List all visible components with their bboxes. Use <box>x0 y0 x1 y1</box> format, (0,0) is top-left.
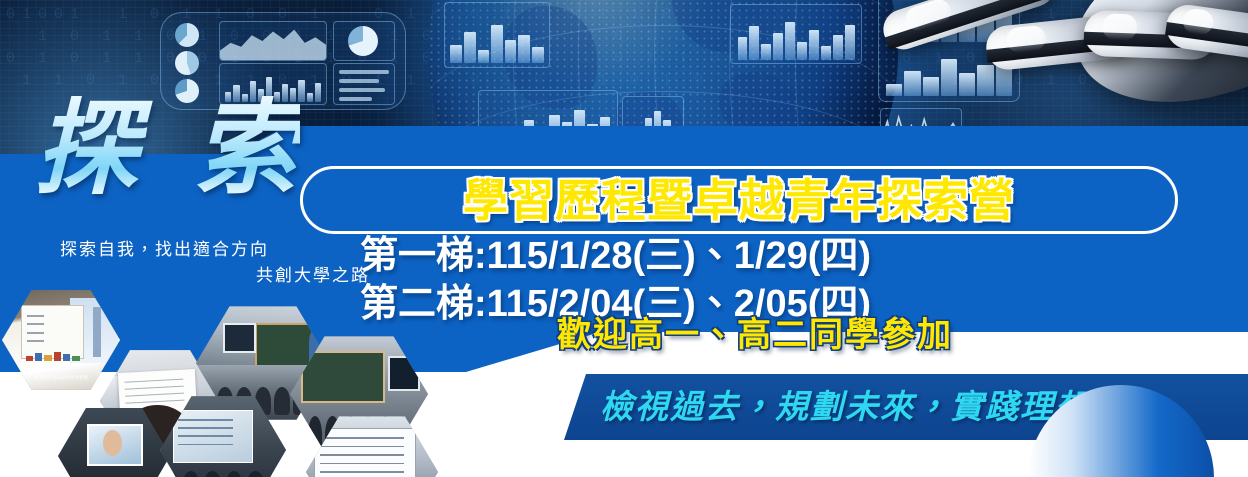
hud-text-lines <box>333 63 395 105</box>
photo-poster: 學習歷程暨卓越青年探索營 <box>2 288 120 392</box>
tagline-line-1: 探索自我，找出適合方向 <box>60 240 269 260</box>
hud-donut-chart <box>333 21 395 61</box>
brand-wordmark: 探索 <box>34 96 300 200</box>
tagline: 探索自我，找出適合方向 共創大學之路 <box>60 238 380 289</box>
hud-panel-top-center <box>444 2 550 68</box>
session-date-1: 第一梯:115/1/28(三)、1/29(四) <box>360 232 1150 280</box>
brand-word-1: 探 <box>34 87 140 209</box>
hud-candlestick-chart <box>730 4 862 64</box>
welcome-notice: 歡迎高一、高二同學參加 <box>360 318 1150 352</box>
main-title: 學習歷程暨卓越青年探索營 <box>463 178 1015 223</box>
photo-poster-caption: 學習歷程暨卓越青年探索營 <box>9 375 113 382</box>
hud-area-chart <box>219 21 327 61</box>
main-title-pill: 學習歷程暨卓越青年探索營 <box>300 166 1178 234</box>
brand-word-2: 索 <box>194 96 300 200</box>
event-promo-banner: 01001 1 0 1 1 0 0 1 0 1 1 0 1 0 0 1 1 0 … <box>0 0 1248 477</box>
hud-pie-chart-2 <box>175 51 199 75</box>
tagline-line-2: 共創大學之路 <box>60 264 380 290</box>
hud-pie-chart-1 <box>175 23 199 47</box>
